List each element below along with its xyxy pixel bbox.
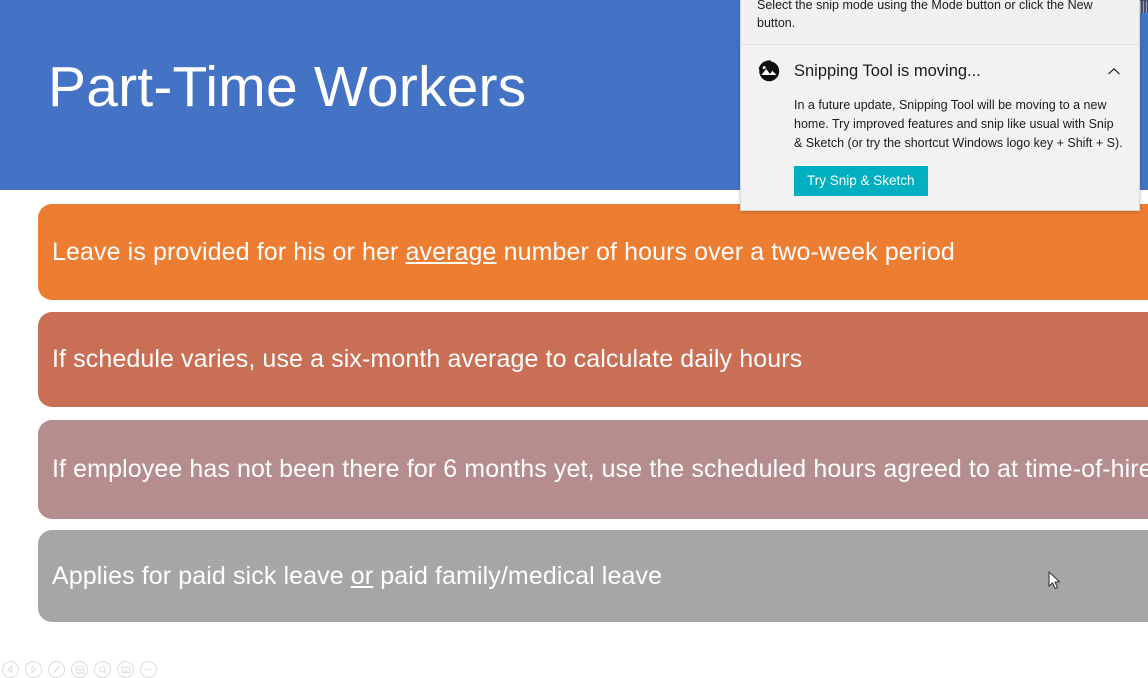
bar-4-text-before: Applies for paid sick leave <box>52 562 351 590</box>
more-options-icon[interactable] <box>140 661 157 678</box>
content-bar-2: If schedule varies, use a six-month aver… <box>38 312 1148 407</box>
content-bar-1: Leave is provided for his or her average… <box>38 204 1148 300</box>
content-bar-3: If employee has not been there for 6 mon… <box>38 420 1148 519</box>
snipping-tool-notification-body: Snipping Tool is moving... In a future u… <box>741 45 1139 209</box>
subtitles-icon[interactable] <box>117 661 134 678</box>
snipping-tool-notification-header: Snipping Tool is moving... <box>755 57 1125 85</box>
all-slides-icon[interactable] <box>71 661 88 678</box>
bar-4-emphasis: or <box>351 562 373 590</box>
snipping-tool-hint-text: Select the snip mode using the Mode butt… <box>757 0 1123 32</box>
snipping-tool-icon <box>755 57 783 85</box>
previous-slide-icon[interactable] <box>2 661 19 678</box>
zoom-icon[interactable] <box>94 661 111 678</box>
snipping-tool-notification-title: Snipping Tool is moving... <box>794 62 1103 81</box>
page-title: Part-Time Workers <box>48 55 526 121</box>
bar-1-emphasis: average <box>405 238 496 266</box>
pen-icon[interactable] <box>48 661 65 678</box>
content-bar-4: Applies for paid sick leave or paid fami… <box>38 530 1148 622</box>
snipping-tool-notification-description: In a future update, Snipping Tool will b… <box>794 96 1125 152</box>
chevron-up-icon[interactable] <box>1103 60 1125 82</box>
snipping-tool-hint-zone: Select the snip mode using the Mode butt… <box>741 0 1139 45</box>
bar-1-text-before: Leave is provided for his or her <box>52 238 405 266</box>
content-bar-2-text: If schedule varies, use a six-month aver… <box>52 342 802 377</box>
content-bar-4-text: Applies for paid sick leave or paid fami… <box>52 559 662 594</box>
content-bar-1-text: Leave is provided for his or her average… <box>52 235 955 270</box>
bar-4-text-after: paid family/medical leave <box>373 562 662 590</box>
content-bar-3-text: If employee has not been there for 6 mon… <box>52 452 1148 487</box>
next-slide-icon[interactable] <box>25 661 42 678</box>
bar-1-text-after: number of hours over a two-week period <box>497 238 955 266</box>
slideshow-toolbar <box>2 661 157 678</box>
snipping-tool-notification-panel: Select the snip mode using the Mode butt… <box>740 0 1140 211</box>
try-snip-and-sketch-button[interactable]: Try Snip & Sketch <box>794 166 928 196</box>
